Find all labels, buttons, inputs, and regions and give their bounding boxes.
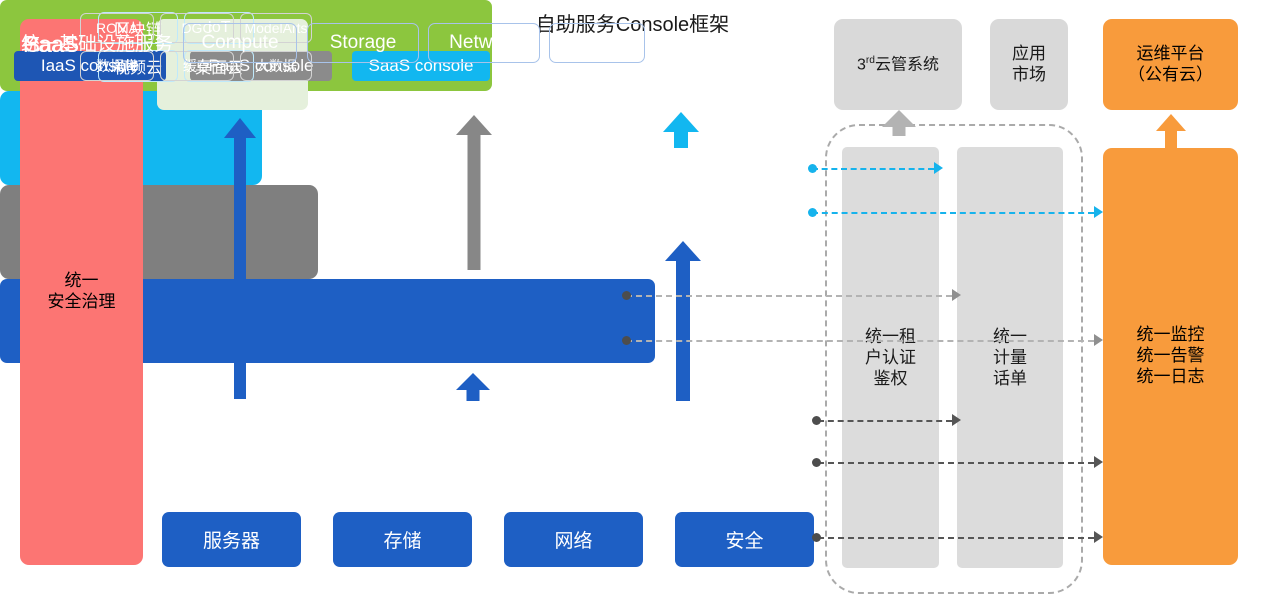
unified-monitoring-column: 统一监控 统一告警 统一日志 [1103,148,1238,565]
arrow-monitor-to-ops-platform [1156,114,1186,148]
arrow-paas-to-console [456,115,492,270]
unified-infrastructure-label: 统一基础设施服务 [14,29,180,56]
unified-tenant-auth-label: 统一租 户认证 鉴权 [865,326,916,390]
third-party-cloud-mgmt-label: 3rd云管系统 [857,55,939,75]
arrow-infra-to-paas [456,373,490,401]
third-cloud-superscript: rd [866,55,875,66]
infra-service-cce[interactable]: CCE [549,23,645,63]
flow-arrowhead-infra-monitoring [1094,456,1106,468]
unified-metering-label: 统一 计量 话单 [993,326,1027,390]
arrow-infra-to-api-gateway [224,118,256,399]
flow-dot-paas-monitoring [622,336,631,345]
arrow-shared-to-third-cloud [882,110,916,136]
infra-service-network[interactable]: Network [428,23,540,63]
flow-arrowhead-infra-auth [952,414,964,426]
flow-dot-resources-monitoring [812,533,821,542]
flow-paas-to-monitoring [626,340,1094,342]
flow-saas-to-metering [812,168,934,170]
infra-service-storage[interactable]: Storage [307,23,419,63]
flow-infra-to-auth [818,420,952,422]
ops-platform-box: 运维平台 （公有云） [1103,19,1238,110]
ops-platform-label: 运维平台 （公有云） [1128,44,1213,85]
app-market-label: 应用 市场 [1012,44,1046,85]
third-party-cloud-mgmt-box: 3rd云管系统 [834,19,962,110]
infra-service-compute[interactable]: Compute [183,23,297,63]
unified-monitoring-label: 统一监控 统一告警 统一日志 [1137,325,1205,387]
flow-dot-infra-auth [812,416,821,425]
flow-dot-paas-auth [622,291,631,300]
flow-arrowhead-resources-monitoring [1094,531,1106,543]
flow-dot-saas-monitoring [808,208,817,217]
flow-resources-to-monitoring [818,537,1094,539]
resource-box-storage[interactable]: 存储 [333,512,472,567]
security-governance-label: 统一 安全治理 [48,271,116,312]
flow-dot-infra-monitoring [812,458,821,467]
third-cloud-suffix: 云管系统 [875,56,939,73]
architecture-diagram: 统一 安全治理 API网关 自助服务Console框架 IaaS console… [0,0,1265,605]
arrow-saas-to-console [663,112,699,148]
flow-arrowhead-paas-auth [952,289,964,301]
arrow-infra-to-saas [665,241,701,401]
resource-box-network[interactable]: 网络 [504,512,643,567]
flow-arrowhead-saas-metering [934,162,946,174]
flow-infra-to-monitoring [818,462,1094,464]
flow-arrowhead-saas-monitoring [1094,206,1106,218]
resource-box-server[interactable]: 服务器 [162,512,301,567]
third-cloud-prefix: 3 [857,56,866,73]
flow-dot-saas-auth [808,164,817,173]
security-governance-column: 统一 安全治理 [20,19,143,565]
unified-tenant-auth-column: 统一租 户认证 鉴权 [842,147,939,568]
app-market-box: 应用 市场 [990,19,1068,110]
resource-box-security[interactable]: 安全 [675,512,814,567]
flow-arrowhead-paas-monitoring [1094,334,1106,346]
unified-metering-column: 统一 计量 话单 [957,147,1063,568]
flow-saas-to-monitoring [812,212,1094,214]
flow-paas-to-auth [626,295,952,297]
